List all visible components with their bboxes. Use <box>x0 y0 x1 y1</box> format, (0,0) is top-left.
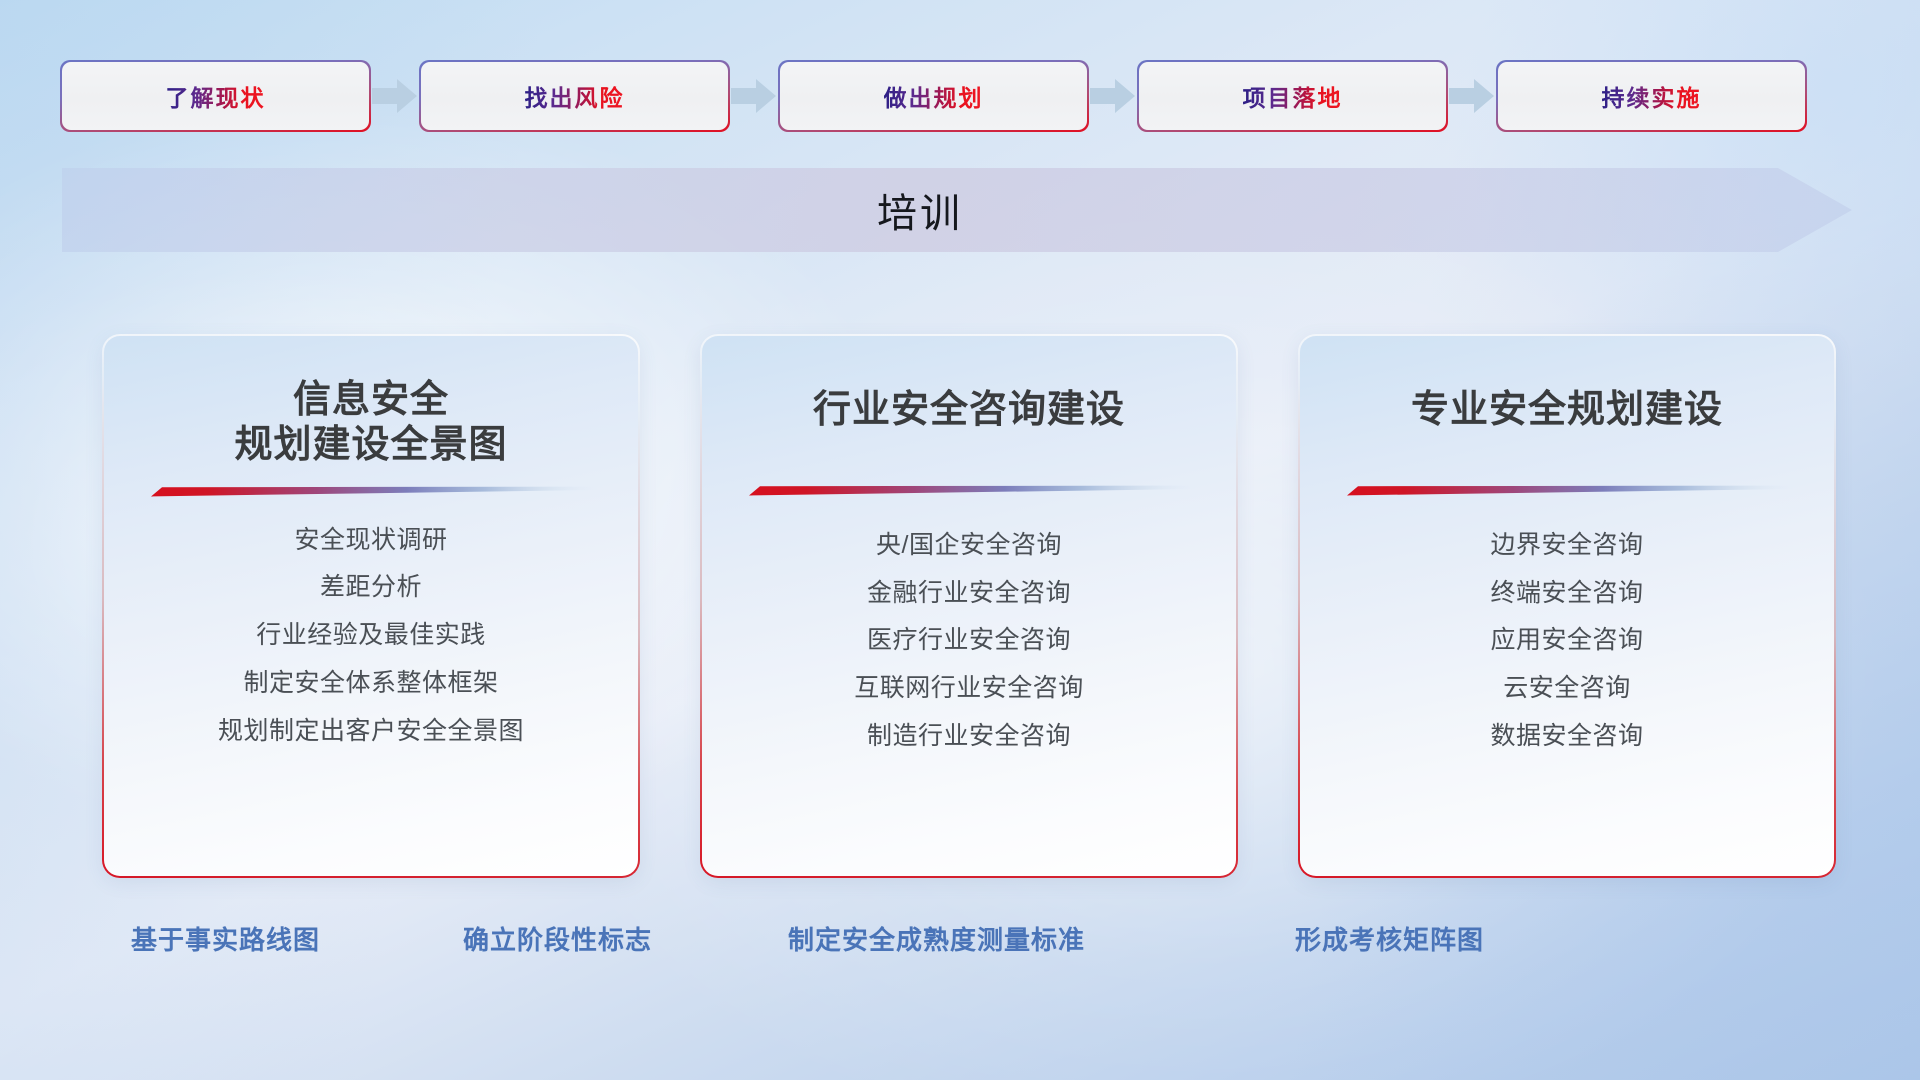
caption-phase-milestones: 确立阶段性标志 <box>463 920 652 957</box>
step-label-3: 做出规划 <box>884 79 984 113</box>
list-item: 规划制定出客户安全全景图 <box>218 712 524 751</box>
list-item: 安全现状调研 <box>294 521 447 560</box>
right-arrow-icon <box>370 74 420 118</box>
card-title: 专业安全规划建设 <box>1411 388 1723 433</box>
process-step-row: 了解现状 找出风险 做出规划 项目落地 <box>62 60 1862 132</box>
list-item: 数据安全咨询 <box>1490 717 1643 756</box>
caption-fact-roadmap: 基于事实路线图 <box>131 920 320 957</box>
card-title: 信息安全 规划建设全景图 <box>234 378 507 468</box>
card-professional-security-planning[interactable]: 专业安全规划建设 边界安全咨询 终端安全咨询 <box>1300 336 1834 876</box>
step-box-5[interactable]: 持续实施 <box>1498 62 1805 130</box>
card-divider <box>743 485 1195 496</box>
right-arrow-icon <box>729 74 779 118</box>
banner-title: 培训 <box>62 168 1852 252</box>
step-label-5: 持续实施 <box>1602 79 1702 113</box>
list-item: 终端安全咨询 <box>1490 574 1643 613</box>
card-divider <box>1341 485 1793 496</box>
card-item-list: 央/国企安全咨询 金融行业安全咨询 医疗行业安全咨询 互联网行业安全咨询 制造行… <box>702 526 1236 756</box>
step-box-4[interactable]: 项目落地 <box>1139 62 1446 130</box>
slide-canvas: 了解现状 找出风险 做出规划 项目落地 <box>0 0 1920 1080</box>
right-arrow-icon <box>1447 74 1497 118</box>
step-box-1[interactable]: 了解现状 <box>62 62 369 130</box>
list-item: 云安全咨询 <box>1503 669 1631 708</box>
list-item: 行业经验及最佳实践 <box>256 616 486 655</box>
list-item: 制定安全体系整体框架 <box>243 664 498 703</box>
card-item-list: 安全现状调研 差距分析 行业经验及最佳实践 制定安全体系整体框架 规划制定出客户… <box>104 521 638 751</box>
list-item: 制造行业安全咨询 <box>867 717 1071 756</box>
step-label-4: 项目落地 <box>1243 79 1343 113</box>
card-row: 信息安全 规划建设全景图 安全现状调研 差距分 <box>104 336 1834 876</box>
list-item: 边界安全咨询 <box>1490 526 1643 565</box>
card-information-security-panorama[interactable]: 信息安全 规划建设全景图 安全现状调研 差距分 <box>104 336 638 876</box>
list-item: 医疗行业安全咨询 <box>867 621 1071 660</box>
card-title: 行业安全咨询建设 <box>813 388 1125 433</box>
caption-assessment-matrix: 形成考核矩阵图 <box>1295 920 1484 957</box>
list-item: 互联网行业安全咨询 <box>854 669 1084 708</box>
caption-maturity-standard: 制定安全成熟度测量标准 <box>788 920 1085 957</box>
list-item: 差距分析 <box>320 568 422 607</box>
right-arrow-icon <box>1088 74 1138 118</box>
step-label-1: 了解现状 <box>166 79 266 113</box>
step-box-2[interactable]: 找出风险 <box>421 62 728 130</box>
card-item-list: 边界安全咨询 终端安全咨询 应用安全咨询 云安全咨询 数据安全咨询 <box>1300 526 1834 756</box>
list-item: 央/国企安全咨询 <box>876 526 1062 565</box>
card-divider <box>145 486 597 497</box>
list-item: 应用安全咨询 <box>1490 621 1643 660</box>
card-industry-security-consulting[interactable]: 行业安全咨询建设 央/国企安全咨询 金融行业安 <box>702 336 1236 876</box>
step-box-3[interactable]: 做出规划 <box>780 62 1087 130</box>
step-label-2: 找出风险 <box>525 79 625 113</box>
caption-row: 基于事实路线图 确立阶段性标志 制定安全成熟度测量标准 形成考核矩阵图 <box>0 920 1920 964</box>
training-banner: 培训 <box>62 168 1852 252</box>
list-item: 金融行业安全咨询 <box>867 574 1071 613</box>
